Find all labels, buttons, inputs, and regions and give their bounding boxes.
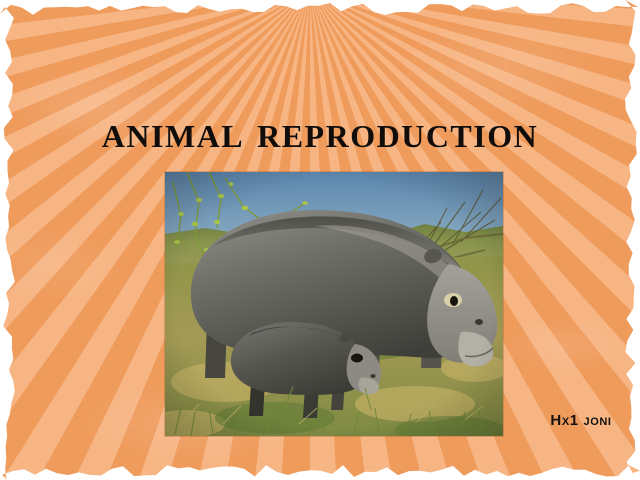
slide-title: Animal Reproduction (0, 106, 640, 158)
hippo-photo (165, 172, 503, 436)
attribution-label: Hx1 joni (536, 412, 626, 429)
presentation-slide: Animal Reproduction Hx1 joni (0, 0, 640, 480)
